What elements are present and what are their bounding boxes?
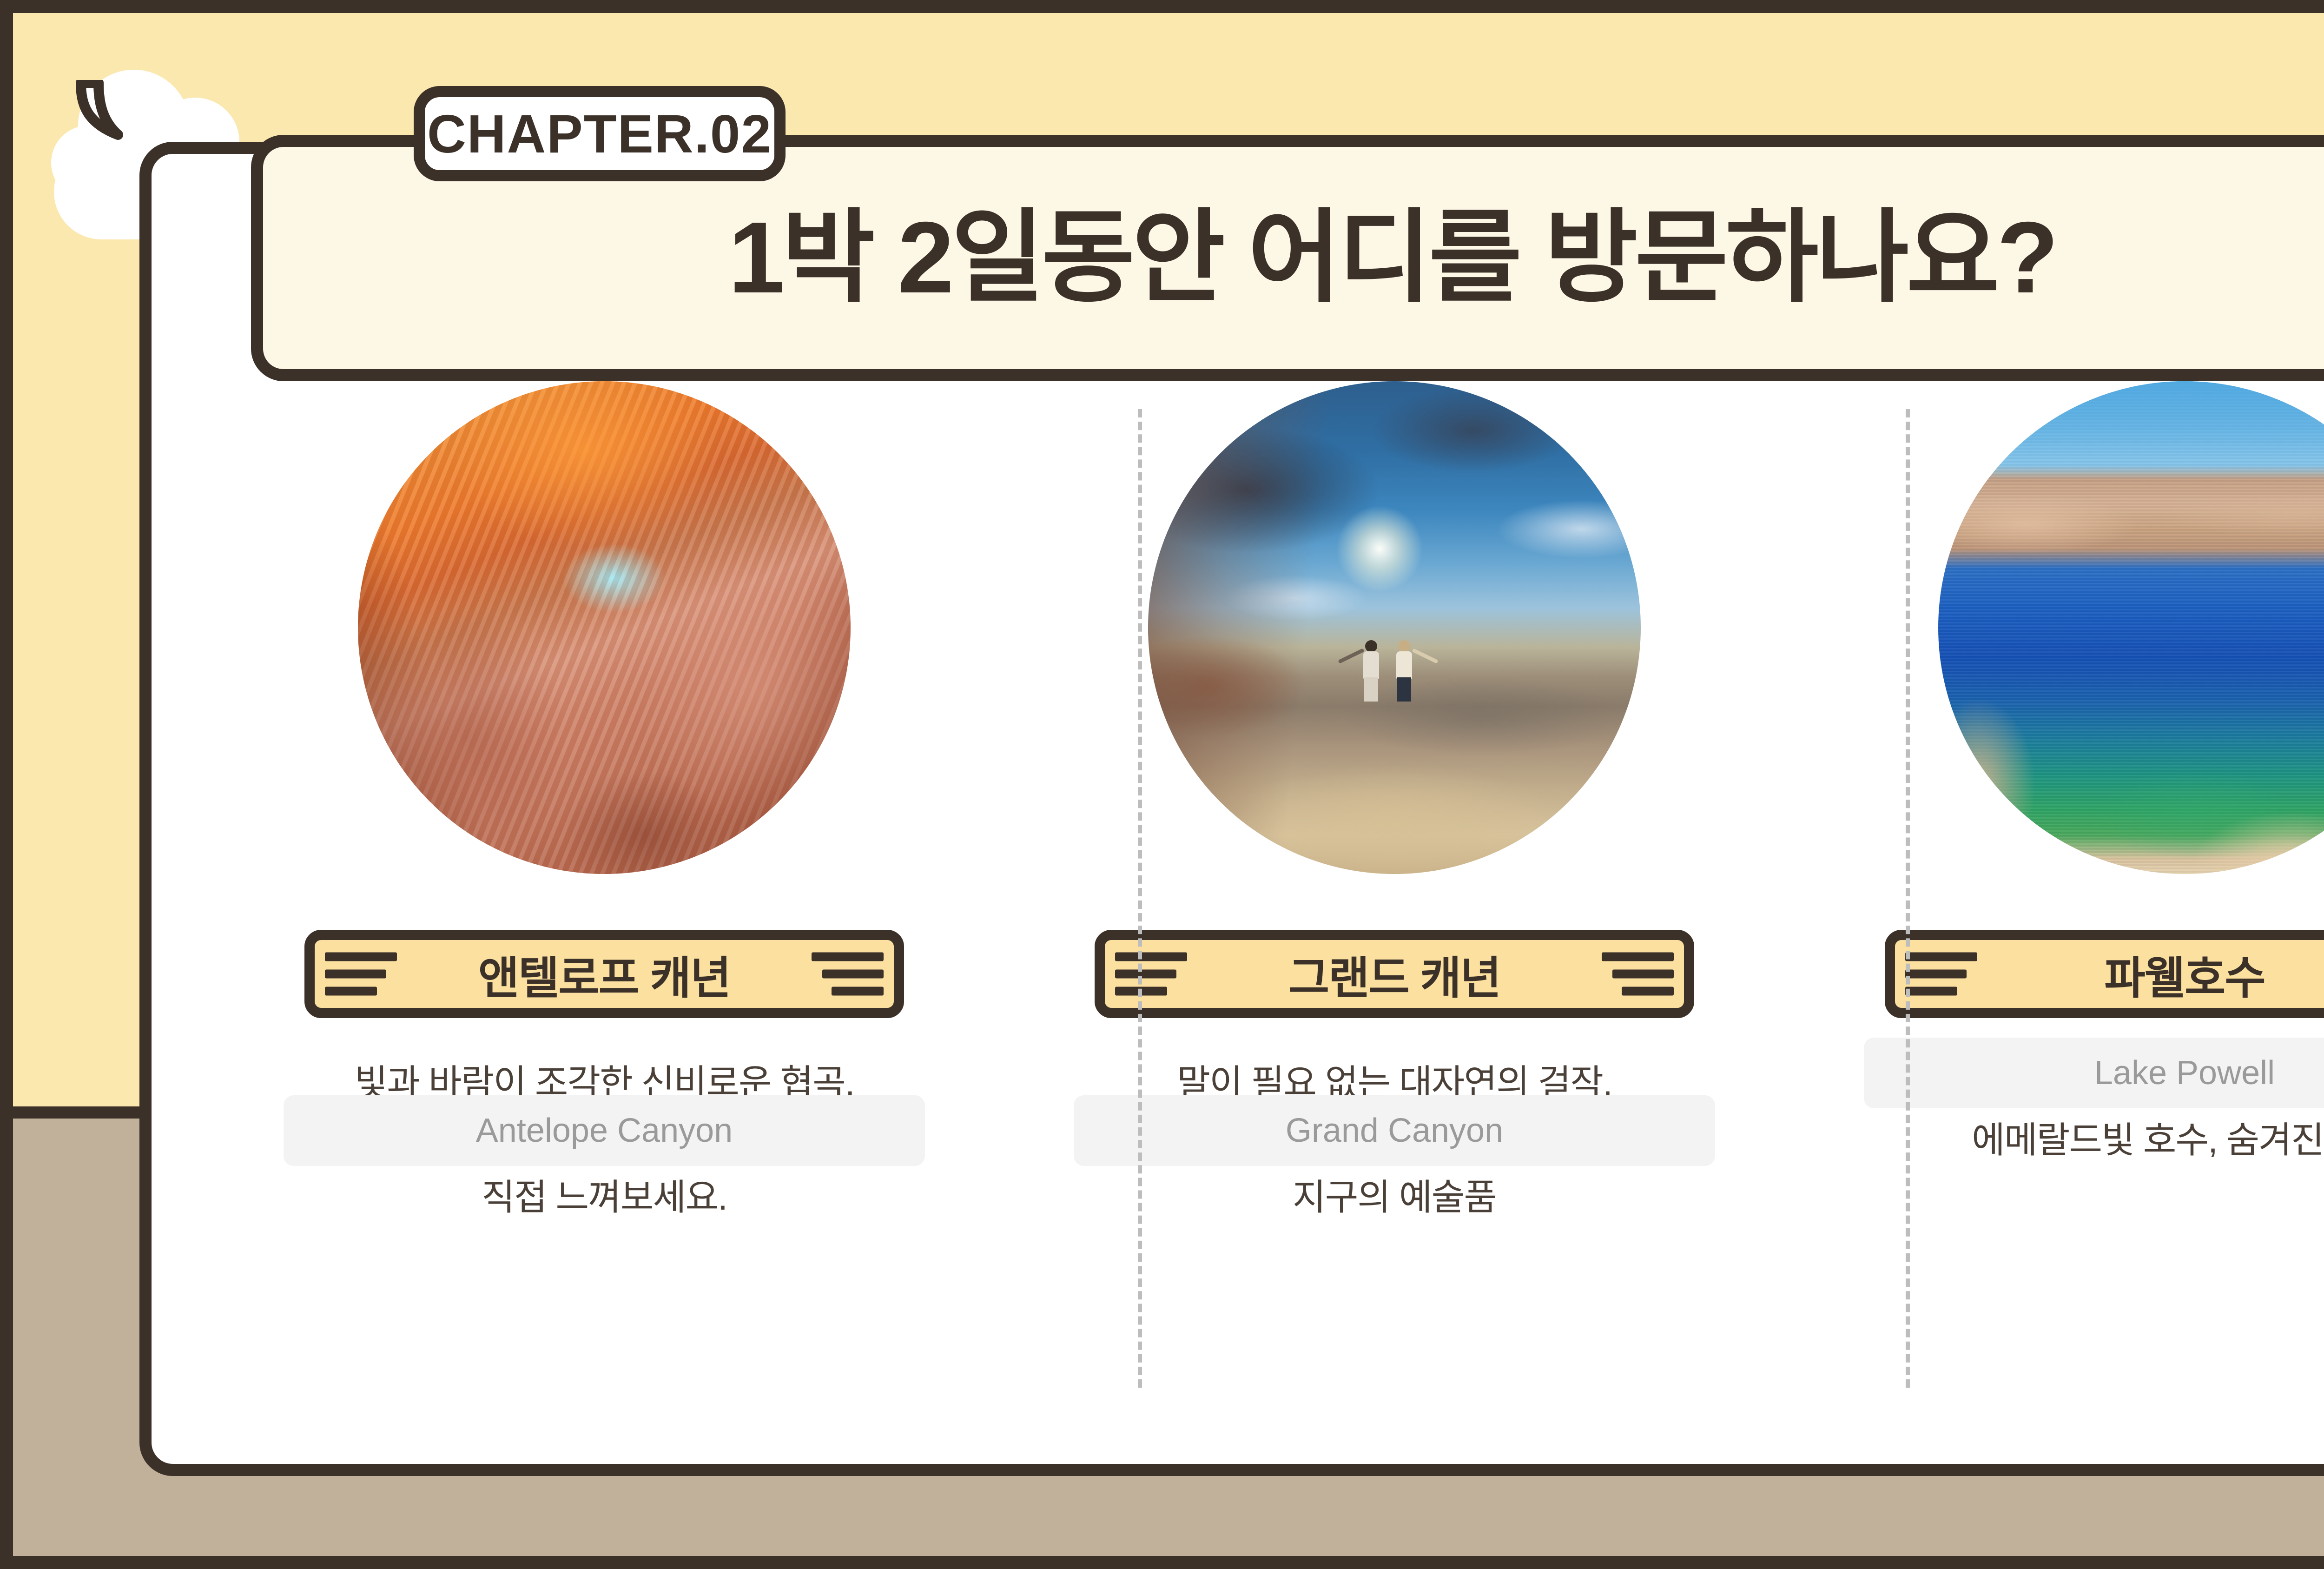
antelope-canyon-photo [358, 381, 851, 874]
destination-name-ko: 앤텔로프 캐년 [478, 942, 731, 1006]
destination-name-ko: 그랜드 캐년 [1288, 942, 1500, 1006]
destination-name-en: Lake Powell [2094, 1054, 2275, 1092]
destination-name-banner: 파웰호수 [1885, 930, 2324, 1018]
chapter-badge: CHAPTER.02 [414, 86, 786, 181]
slide-stage: 1박 2일동안 어디를 방문하나요? CHAPTER.02 앤텔로프 캐년 [0, 0, 2324, 1569]
destination-name-en: Antelope Canyon [476, 1112, 733, 1150]
column-divider-1 [1138, 409, 1142, 1388]
destination-name-en: Grand Canyon [1286, 1112, 1503, 1150]
person-silhouette-left [1362, 640, 1380, 701]
banner-stripes-left-icon [1115, 953, 1187, 996]
destination-name-en-pill: Grand Canyon [1074, 1095, 1715, 1166]
speech-bubble-tail-icon [74, 80, 135, 140]
lake-powell-photo [1938, 381, 2324, 874]
destination-name-en-pill: Lake Powell [1864, 1038, 2324, 1108]
destination-name-banner: 앤텔로프 캐년 [304, 930, 904, 1018]
destination-columns: 앤텔로프 캐년 빛과 바람이 조각한 신비로운 협곡, 빛줄기가 춤추는 순간을… [139, 381, 2324, 1476]
destination-name-ko: 파웰호수 [2104, 942, 2265, 1006]
destination-card-antelope-canyon[interactable]: 앤텔로프 캐년 빛과 바람이 조각한 신비로운 협곡, 빛줄기가 춤추는 순간을… [223, 381, 985, 1226]
banner-stripes-left-icon [1905, 953, 1977, 996]
banner-stripes-right-icon [812, 953, 884, 996]
destination-card-grand-canyon[interactable]: 그랜드 캐년 말이 필요 없는 대자연의 걸작, 수백만 년의 역사가 깎아낸 … [1013, 381, 1776, 1226]
banner-stripes-left-icon [325, 953, 397, 996]
destination-name-en-pill: Antelope Canyon [284, 1095, 925, 1166]
column-divider-2 [1906, 409, 1910, 1388]
banner-stripes-right-icon [1602, 953, 1674, 996]
destination-name-banner: 그랜드 캐년 [1095, 930, 1694, 1018]
destination-card-lake-powell[interactable]: 파웰호수 붉은 협곡 사이에 숨겨진 에메랄드빛 호수, 숨겨진 절경 Lake… [1803, 381, 2324, 1169]
person-silhouette-right [1394, 640, 1414, 703]
page-title: 1박 2일동안 어디를 방문하나요? [263, 207, 2324, 309]
grand-canyon-photo [1148, 381, 1641, 874]
chapter-label: CHAPTER.02 [427, 103, 772, 165]
